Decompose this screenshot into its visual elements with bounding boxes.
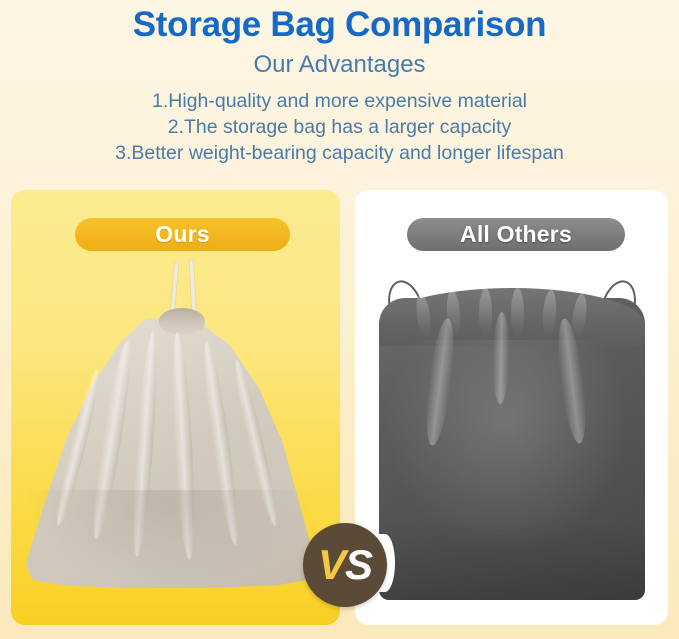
page-subtitle: Our Advantages: [0, 48, 679, 82]
vs-label-v: V: [318, 541, 345, 589]
comparison-section: DOREIMI Ours All Others: [0, 190, 679, 628]
vs-badge: VS: [303, 523, 387, 607]
panel-ours: DOREIMI Ours: [11, 190, 340, 625]
advantage-item-2: 2.The storage bag has a larger capacity: [0, 114, 679, 140]
panel-all-others: All Others: [355, 190, 668, 625]
page-title: Storage Bag Comparison: [0, 4, 679, 46]
bag-body: [23, 318, 318, 588]
vs-label-s: S: [345, 541, 372, 589]
header: Storage Bag Comparison Our Advantages 1.…: [0, 0, 679, 166]
gray-drawstring-bag-icon: [355, 190, 668, 625]
advantages-list: 1.High-quality and more expensive materi…: [0, 88, 679, 166]
advantage-item-3: 3.Better weight-bearing capacity and lon…: [0, 140, 679, 166]
badge-all-others-label: All Others: [460, 221, 572, 248]
advantage-item-1: 1.High-quality and more expensive materi…: [0, 88, 679, 114]
badge-ours-label: Ours: [155, 221, 209, 248]
badge-ours: Ours: [75, 218, 290, 251]
badge-all-others: All Others: [407, 218, 625, 251]
bag-neck: [159, 308, 205, 334]
beige-drawstring-bag-icon: DOREIMI: [11, 190, 340, 625]
